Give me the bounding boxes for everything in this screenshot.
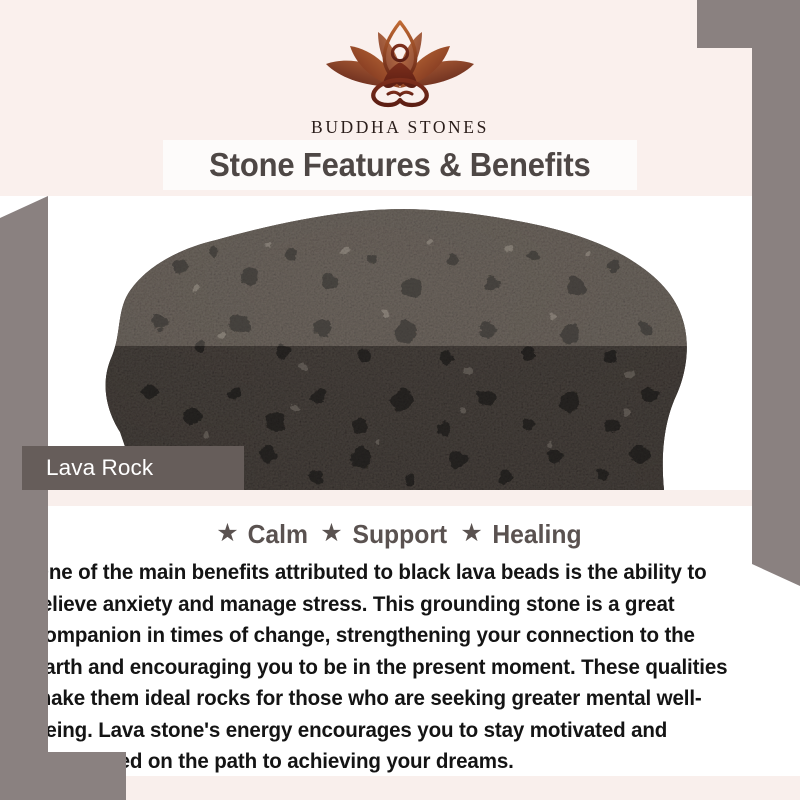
lotus-meditation-icon (0, 14, 800, 115)
benefit-healing: ★ Healing (460, 519, 583, 550)
description-paragraph: One of the main benefits attributed to b… (33, 557, 746, 778)
benefit-label-healing: Healing (492, 519, 581, 550)
photo-content-divider (0, 490, 800, 506)
star-icon: ★ (320, 521, 342, 546)
bottom-band (0, 776, 800, 800)
benefit-support: ★ Support (320, 519, 449, 550)
stone-name-tag: Lava Rock (22, 446, 244, 490)
brand-logo: BUDDHA STONES (0, 14, 800, 138)
brand-wordmark: BUDDHA STONES (0, 117, 800, 138)
stone-photo: Lava Rock (0, 196, 800, 490)
title-banner: Stone Features & Benefits (163, 140, 637, 190)
benefits-row: ★ Calm ★ Support ★ Healing (0, 506, 800, 550)
header-section: BUDDHA STONES Stone Features & Benefits (0, 0, 800, 196)
benefit-calm: ★ Calm (216, 519, 309, 550)
benefit-label-support: Support (352, 519, 447, 550)
star-icon: ★ (216, 521, 238, 546)
content-section: ★ Calm ★ Support ★ Healing One of the ma… (0, 506, 800, 776)
star-icon: ★ (460, 521, 482, 546)
stone-name-label: Lava Rock (46, 455, 153, 481)
page-title: Stone Features & Benefits (209, 146, 590, 184)
benefit-label-calm: Calm (247, 519, 307, 550)
poster-root: BUDDHA STONES Stone Features & Benefits (0, 0, 800, 800)
